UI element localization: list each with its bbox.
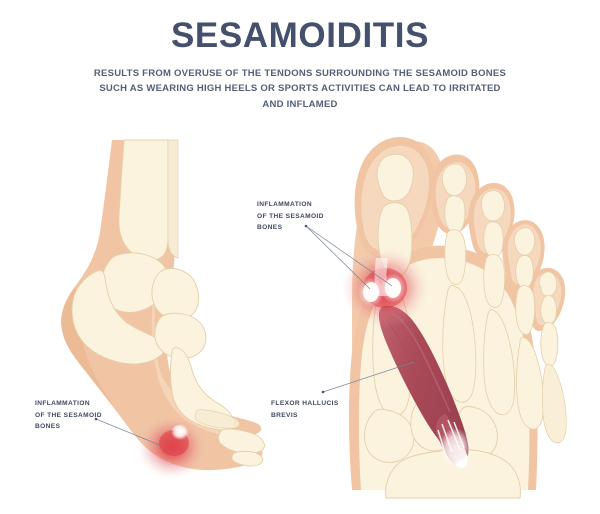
annotation-inflammation-sesamoid-bones-plantar: INFLAMMATION OF THE SESAMOID BONES	[257, 199, 324, 234]
toe-3-proximal-phalanx	[484, 254, 505, 307]
navicular-bone	[152, 268, 199, 320]
toe-4-distal-phalanx	[514, 228, 534, 256]
toe-2-distal-phalanx	[442, 164, 466, 196]
metatarsal-5-bone	[542, 365, 566, 443]
toe-2-proximal-phalanx	[445, 230, 466, 285]
tendon-insertion-glow	[439, 428, 471, 466]
tibia-bone	[119, 140, 168, 260]
lateral-sesamoid-highlight	[171, 424, 189, 440]
metatarsal-4-bone	[517, 337, 544, 429]
toe-5-distal-phalanx	[539, 272, 557, 296]
toe-4-middle-phalanx	[516, 255, 534, 288]
leader-dot-flexor	[322, 391, 325, 394]
toe-5-proximal-phalanx	[541, 322, 558, 366]
toe-4-proximal-phalanx	[516, 285, 535, 334]
toe-3-middle-phalanx	[484, 222, 504, 257]
toe-5-middle-phalanx	[541, 296, 557, 325]
annotation-flexor-hallucis-brevis: FLEXOR HALLUCIS BREVIS	[271, 398, 339, 421]
sesamoiditis-infographic: SESAMOIDITIS RESULTS FROM OVERUSE OF THE…	[0, 0, 600, 514]
page-subtitle: RESULTS FROM OVERUSE OF THE TENDONS SURR…	[90, 66, 510, 112]
plantar-foot-figure	[341, 137, 566, 498]
toe-2-middle-phalanx	[445, 196, 465, 233]
hallux-distal-phalanx	[377, 154, 413, 201]
fibula-bone	[168, 140, 178, 258]
page-title: SESAMOIDITIS	[0, 18, 600, 55]
toe-3-distal-phalanx	[481, 191, 504, 221]
sesamoid-tendon-streak	[375, 258, 389, 296]
header: SESAMOIDITIS RESULTS FROM OVERUSE OF THE…	[0, 18, 600, 112]
annotation-inflammation-sesamoid-bones-lateral: INFLAMMATION OF THE SESAMOID BONES	[35, 398, 102, 433]
